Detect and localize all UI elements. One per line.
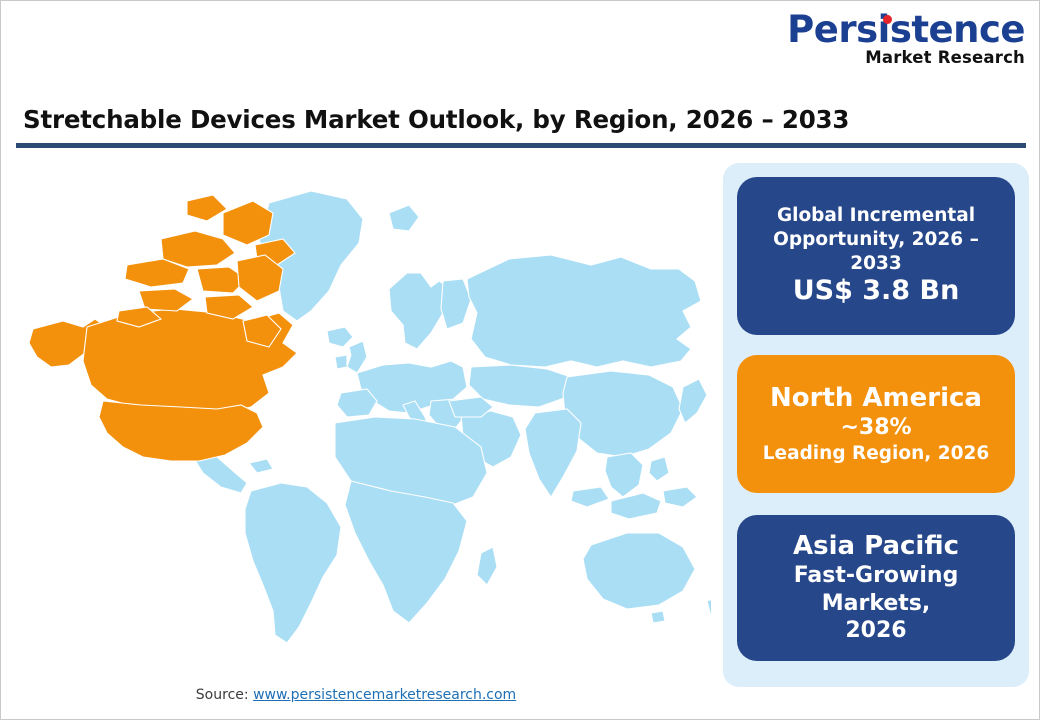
leading-region-name: North America bbox=[770, 383, 982, 414]
card-leading-region[interactable]: North America ~38% Leading Region, 2026 bbox=[737, 355, 1015, 493]
fast-growing-caption-2: 2026 bbox=[845, 617, 906, 645]
card-fast-growing-region[interactable]: Asia Pacific Fast-Growing Markets, 2026 bbox=[737, 515, 1015, 661]
map-highlight-north-america bbox=[29, 195, 297, 461]
infographic-page: Persistence Market Research Stretchable … bbox=[0, 0, 1040, 720]
leading-region-share: ~38% bbox=[840, 414, 911, 442]
stats-panel: Global Incremental Opportunity, 2026 – 2… bbox=[723, 163, 1029, 687]
source-line: Source: www.persistencemarketresearch.co… bbox=[1, 687, 711, 703]
opportunity-line-1: Global Incremental bbox=[777, 204, 975, 228]
leading-region-caption: Leading Region, 2026 bbox=[763, 442, 989, 466]
opportunity-value: US$ 3.8 Bn bbox=[793, 275, 960, 307]
source-label: Source: bbox=[196, 687, 249, 703]
opportunity-line-2: Opportunity, 2026 – bbox=[773, 228, 979, 252]
fast-growing-region-name: Asia Pacific bbox=[793, 531, 959, 562]
title-underline-rule bbox=[16, 143, 1026, 148]
company-logo: Persistence Market Research bbox=[725, 11, 1025, 67]
source-url-link[interactable]: www.persistencemarketresearch.com bbox=[253, 687, 516, 703]
fast-growing-caption-1: Fast-Growing Markets, bbox=[751, 562, 1001, 617]
brand-tagline: Market Research bbox=[725, 50, 1025, 67]
card-global-incremental-opportunity[interactable]: Global Incremental Opportunity, 2026 – 2… bbox=[737, 177, 1015, 335]
brand-name: Persistence bbox=[787, 11, 1025, 48]
page-title: Stretchable Devices Market Outlook, by R… bbox=[23, 105, 849, 134]
opportunity-line-3: 2033 bbox=[850, 252, 902, 276]
world-map bbox=[11, 161, 711, 666]
logo-dot-icon bbox=[883, 15, 892, 24]
